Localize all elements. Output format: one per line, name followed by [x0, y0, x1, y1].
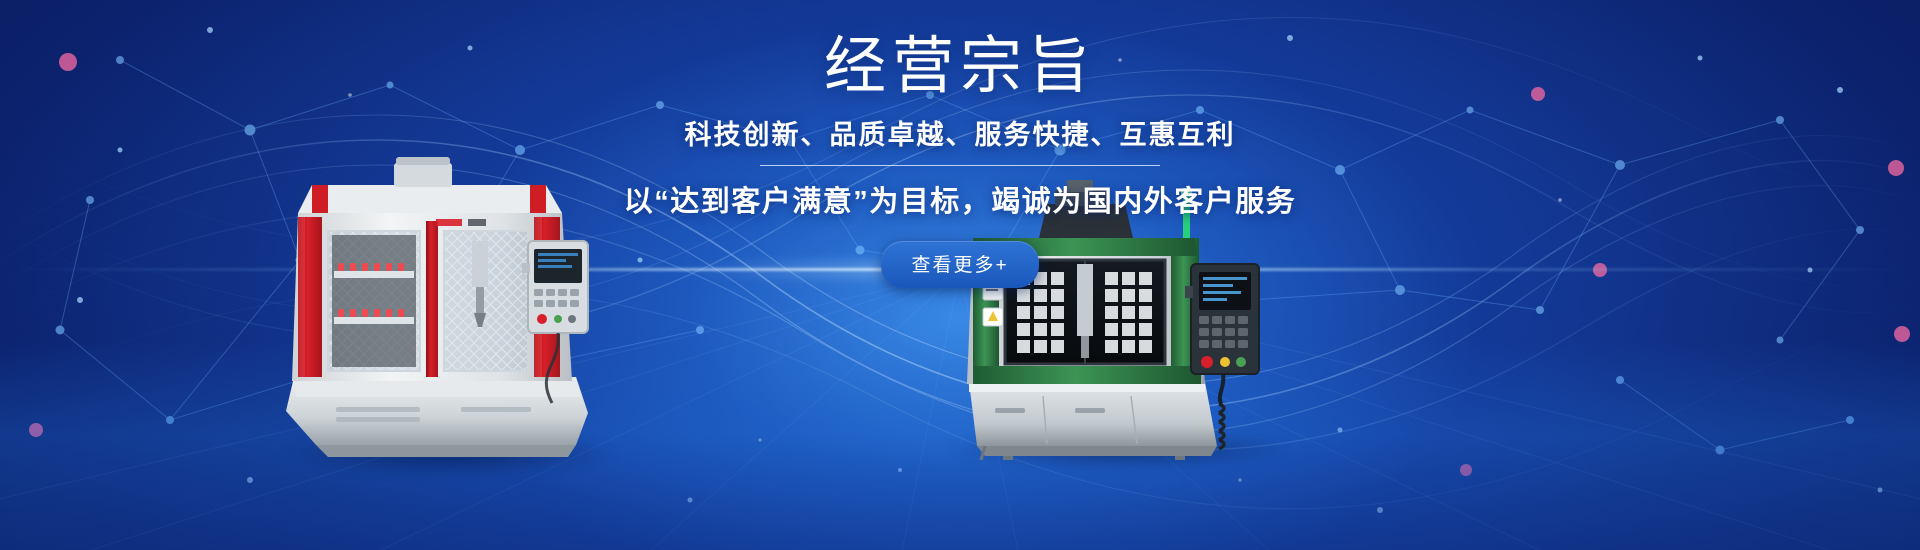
view-more-button[interactable]: 查看更多+: [881, 241, 1038, 288]
text-divider: [760, 165, 1160, 166]
banner-tagline: 以“达到客户满意”为目标，竭诚为国内外客户服务: [0, 178, 1920, 220]
banner-content: 经营宗旨 科技创新、品质卓越、服务快捷、互惠互利 以“达到客户满意”为目标，竭诚…: [0, 0, 1920, 288]
hero-banner: 经营宗旨 科技创新、品质卓越、服务快捷、互惠互利 以“达到客户满意”为目标，竭诚…: [0, 0, 1920, 550]
banner-title: 经营宗旨: [0, 30, 1920, 103]
banner-subtitle: 科技创新、品质卓越、服务快捷、互惠互利: [0, 113, 1920, 152]
